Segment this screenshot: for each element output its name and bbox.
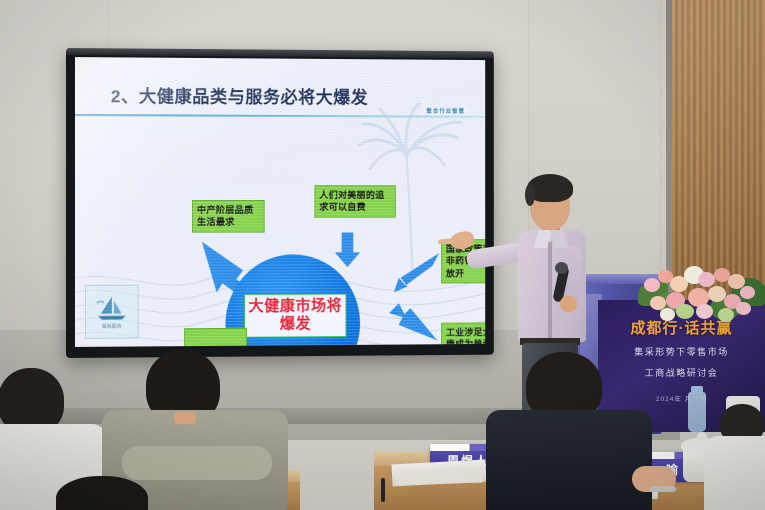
- sailboat-logo: 富扬医药: [85, 285, 139, 339]
- floral-arrangement: [636, 252, 765, 328]
- slide-box-1: 中产阶层品质生活最求: [192, 200, 265, 233]
- center-circle-label: 大健康市场将爆发: [244, 294, 346, 338]
- conference-room-scene: 2、大健康品类与服务必将大爆发 整合行业智慧 大健康市场将爆发 中产阶层品质生活…: [0, 0, 765, 510]
- slide-content: 2、大健康品类与服务必将大爆发 整合行业智慧 大健康市场将爆发 中产阶层品质生活…: [75, 57, 485, 347]
- presentation-screen[interactable]: 2、大健康品类与服务必将大爆发 整合行业智慧 大健康市场将爆发 中产阶层品质生活…: [66, 48, 494, 358]
- slide-box-5: [184, 328, 247, 347]
- slide-box-2: 人们对美丽的追求可以自费: [314, 185, 395, 217]
- water-bottle-cap-podium: [691, 386, 703, 394]
- speaker-hair-side: [525, 184, 535, 206]
- bracelet: [650, 486, 676, 492]
- audience-member-right: [704, 404, 765, 510]
- microphone-head-icon: [555, 262, 568, 274]
- screen-display: 2、大健康品类与服务必将大爆发 整合行业智慧 大健康市场将爆发 中产阶层品质生活…: [75, 57, 485, 347]
- audience-neck: [174, 412, 196, 424]
- audience-member-foreground: [42, 466, 162, 510]
- speaker-shirt-placket: [548, 242, 552, 338]
- handout-papers: [396, 467, 483, 486]
- sailboat-icon: [95, 294, 129, 322]
- audience-member-hand-right: [598, 452, 688, 510]
- pen-vertical: [381, 478, 385, 502]
- sailboat-logo-caption: 富扬医药: [102, 323, 122, 329]
- speaker-hand-holding-mic: [560, 296, 577, 312]
